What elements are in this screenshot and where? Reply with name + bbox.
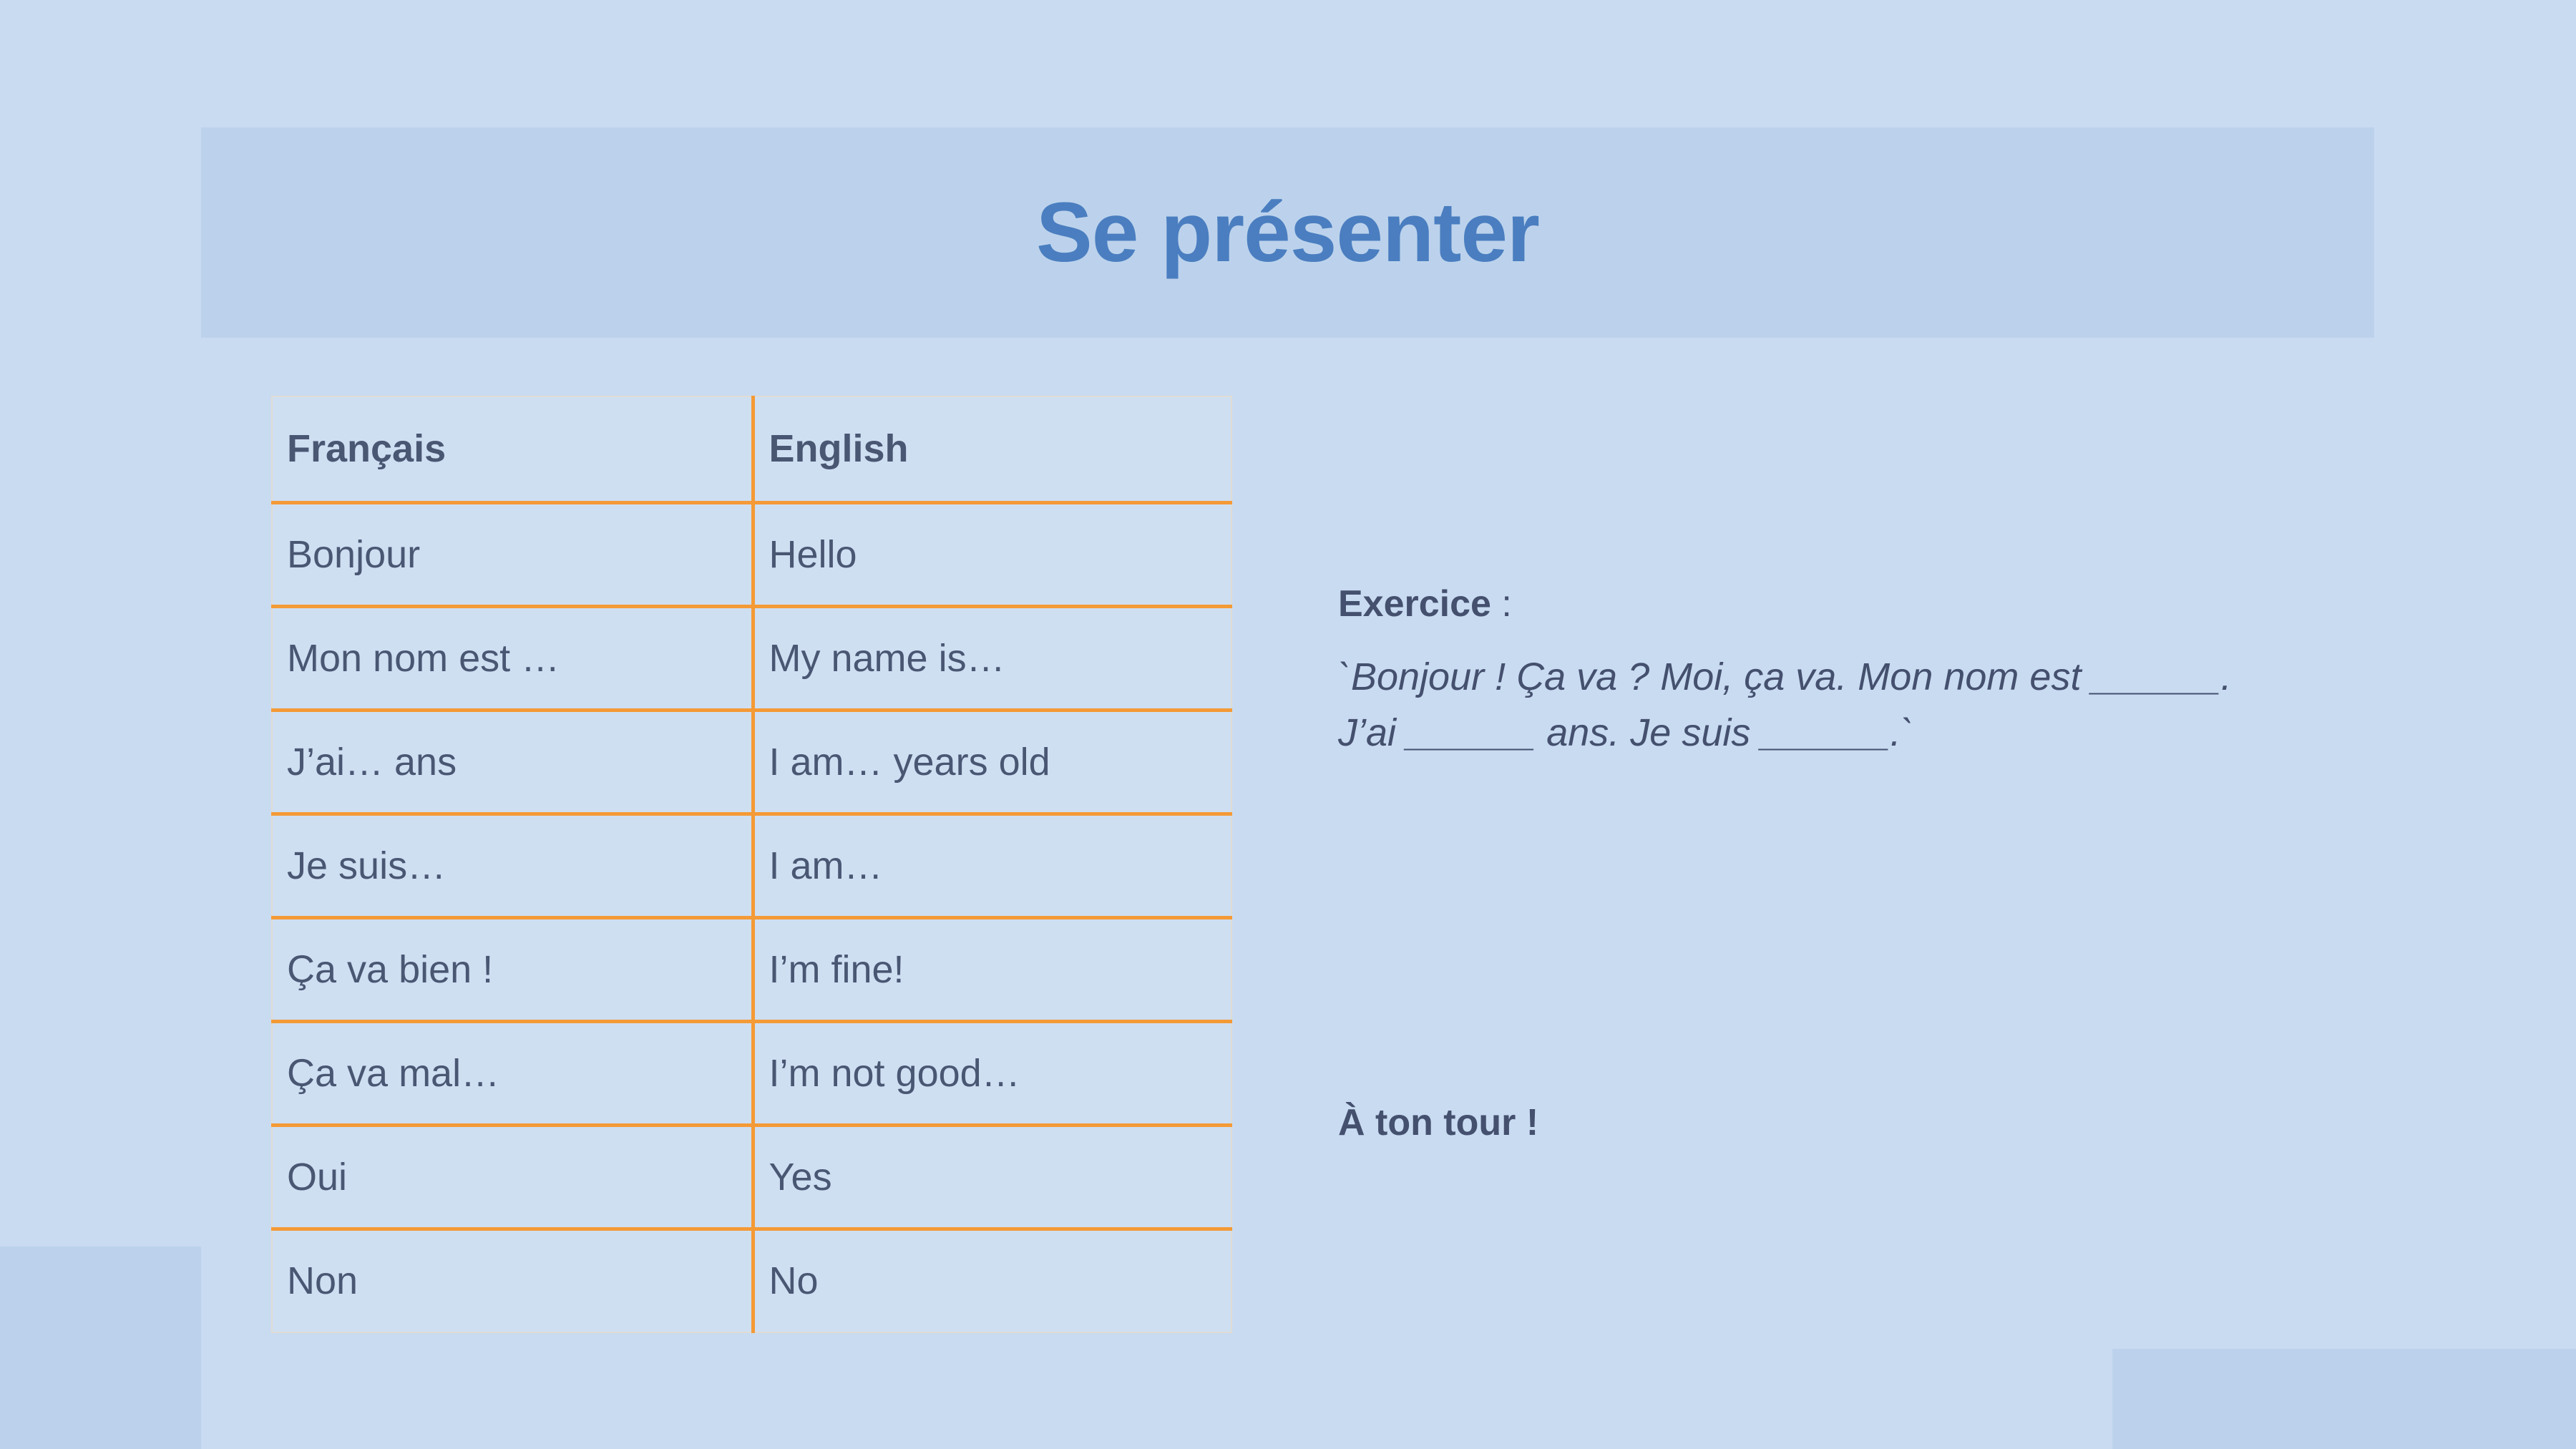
page-title: Se présenter	[1036, 190, 1539, 275]
cell-francais: Non	[272, 1229, 753, 1332]
cell-english: My name is…	[753, 606, 1231, 710]
cell-english: No	[753, 1229, 1231, 1332]
exercise-heading: Exercice :	[1338, 581, 2268, 628]
a-ton-tour-prompt: À ton tour !	[1338, 1101, 1538, 1145]
slide-canvas: Se présenter Français English Bonjour He…	[0, 0, 2576, 1449]
table-header-francais: Français	[272, 396, 753, 502]
title-band: Se présenter	[201, 127, 2374, 338]
decorative-box-bottom-left	[0, 1246, 201, 1449]
exercise-heading-label: Exercice	[1338, 583, 1491, 625]
table-row: Ça va bien ! I’m fine!	[272, 917, 1231, 1021]
cell-english: Hello	[753, 502, 1231, 606]
cell-english: Yes	[753, 1125, 1231, 1229]
table-header-english: English	[753, 396, 1231, 502]
cell-english: I am…	[753, 814, 1231, 917]
table-row: Oui Yes	[272, 1125, 1231, 1229]
table-row: Je suis… I am…	[272, 814, 1231, 917]
exercise-body-text: `Bonjour ! Ça va ? Moi, ça va. Mon nom e…	[1338, 649, 2268, 761]
table-row: Bonjour Hello	[272, 502, 1231, 606]
cell-francais: Mon nom est …	[272, 606, 753, 710]
cell-english: I’m not good…	[753, 1021, 1231, 1125]
exercise-heading-colon: :	[1491, 583, 1512, 625]
cell-english: I am… years old	[753, 710, 1231, 814]
table-row: Mon nom est … My name is…	[272, 606, 1231, 710]
cell-francais: Bonjour	[272, 502, 753, 606]
cell-english: I’m fine!	[753, 917, 1231, 1021]
exercise-block: Exercice : `Bonjour ! Ça va ? Moi, ça va…	[1338, 581, 2268, 761]
cell-francais: Je suis…	[272, 814, 753, 917]
table-row: Non No	[272, 1229, 1231, 1332]
vocabulary-table: Français English Bonjour Hello Mon nom e…	[271, 396, 1232, 1333]
table-row: Ça va mal… I’m not good…	[272, 1021, 1231, 1125]
cell-francais: Ça va mal…	[272, 1021, 753, 1125]
cell-francais: Oui	[272, 1125, 753, 1229]
decorative-box-bottom-right	[2112, 1349, 2576, 1449]
table-header-row: Français English	[272, 396, 1231, 502]
cell-francais: J’ai… ans	[272, 710, 753, 814]
cell-francais: Ça va bien !	[272, 917, 753, 1021]
table-row: J’ai… ans I am… years old	[272, 710, 1231, 814]
